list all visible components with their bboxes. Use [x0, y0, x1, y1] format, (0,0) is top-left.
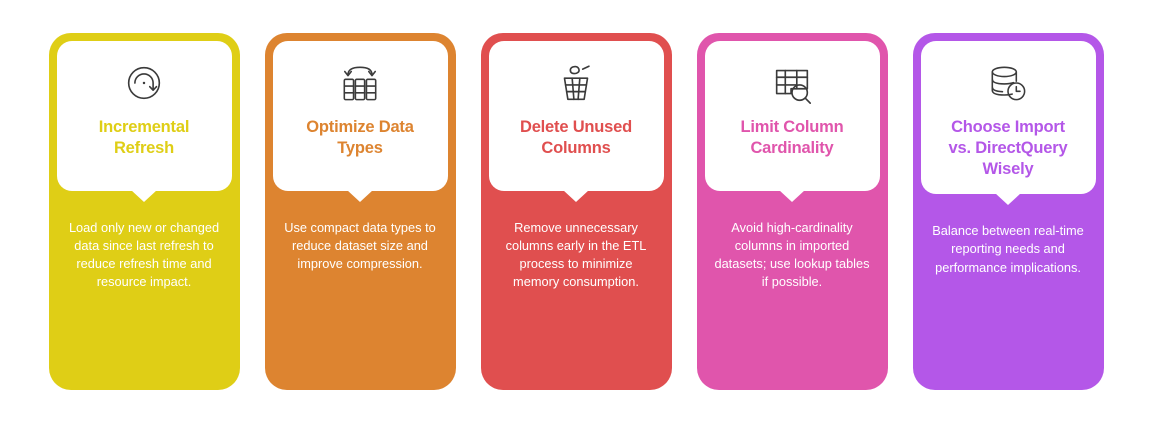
card-incremental-refresh[interactable]: Incremental RefreshLoad only new or chan…	[49, 33, 240, 390]
card-delete-unused-columns[interactable]: Delete Unused ColumnsRemove unnecessary …	[481, 33, 672, 390]
card-description: Use compact data types to reduce dataset…	[280, 219, 440, 273]
card-bubble: Optimize Data Types	[273, 41, 448, 191]
card-bubble: Limit Column Cardinality	[705, 41, 880, 191]
refresh-clock-icon	[121, 57, 167, 109]
card-optimize-data-types[interactable]: Optimize Data TypesUse compact data type…	[265, 33, 456, 390]
card-title: Choose Import vs. DirectQuery Wisely	[949, 117, 1068, 180]
card-choose-import-vs-directquery[interactable]: Choose Import vs. DirectQuery WiselyBala…	[913, 33, 1104, 390]
card-title: Optimize Data Types	[306, 117, 413, 159]
trash-bin-icon	[553, 57, 599, 109]
card-title: Delete Unused Columns	[520, 117, 632, 159]
card-limit-column-cardinality[interactable]: Limit Column CardinalityAvoid high-cardi…	[697, 33, 888, 390]
card-title: Incremental Refresh	[99, 117, 189, 159]
table-search-icon	[768, 57, 816, 109]
card-bubble: Choose Import vs. DirectQuery Wisely	[921, 41, 1096, 194]
card-description: Load only new or changed data since last…	[64, 219, 224, 292]
database-clock-icon	[984, 57, 1032, 109]
card-bubble: Delete Unused Columns	[489, 41, 664, 191]
data-columns-arrows-icon	[336, 57, 384, 109]
card-bubble: Incremental Refresh	[57, 41, 232, 191]
card-description: Balance between real-time reporting need…	[928, 222, 1088, 276]
card-description: Avoid high-cardinality columns in import…	[712, 219, 872, 292]
card-title: Limit Column Cardinality	[740, 117, 843, 159]
card-description: Remove unnecessary columns early in the …	[496, 219, 656, 292]
infographic-card-row: Incremental RefreshLoad only new or chan…	[0, 0, 1152, 425]
